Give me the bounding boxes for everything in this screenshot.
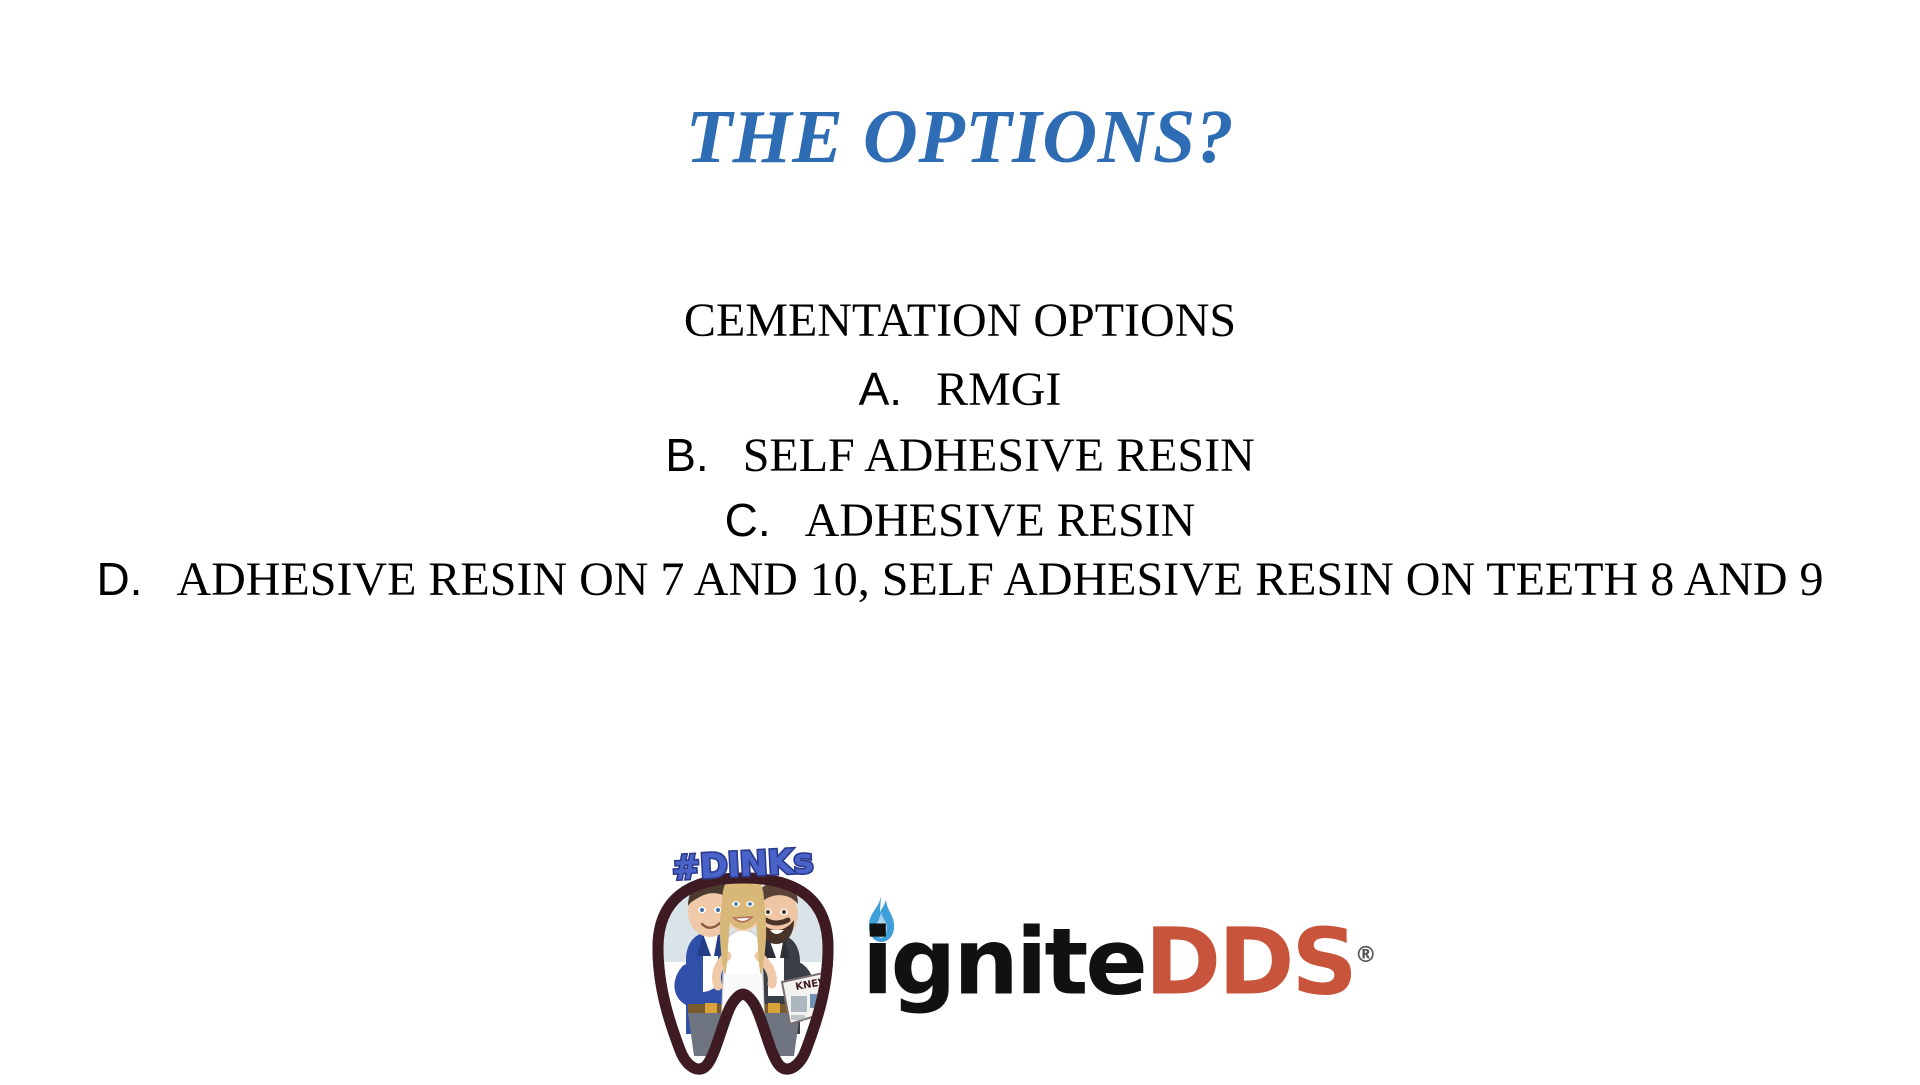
option-marker-b: B.	[665, 429, 708, 481]
option-item-c: C.ADHESIVE RESIN	[70, 488, 1850, 553]
option-item-b: B.SELF ADHESIVE RESIN	[70, 423, 1850, 488]
dinks-logo: KNEWS	[648, 844, 838, 1080]
dinks-wordmark: #DINKs	[671, 844, 814, 889]
option-marker-a: A.	[859, 363, 902, 415]
option-marker-d: D.	[96, 553, 142, 605]
dds-word: DDS	[1145, 909, 1355, 1016]
slide-title: THE OPTIONS?	[0, 96, 1920, 178]
option-marker-c: C.	[725, 494, 771, 546]
svg-text:#DINKs: #DINKs	[671, 844, 814, 889]
option-text-c: ADHESIVE RESIN	[805, 494, 1196, 547]
option-text-a: RMGI	[936, 363, 1061, 416]
ignitedds-logo: igniteDDS®	[862, 896, 1312, 1016]
logo-strip: KNEWS	[0, 838, 1920, 1080]
option-item-a: A.RMGI	[70, 357, 1850, 422]
dinks-logo-graphic: KNEWS	[648, 844, 838, 1080]
body-heading: CEMENTATION OPTIONS	[70, 288, 1850, 353]
option-text-b: SELF ADHESIVE RESIN	[743, 429, 1255, 482]
slide-body: CEMENTATION OPTIONS A.RMGI B.SELF ADHESI…	[70, 288, 1850, 607]
ignitedds-wordmark: igniteDDS®	[862, 896, 1377, 1023]
ignite-word: ignite	[862, 909, 1145, 1016]
presentation-slide: THE OPTIONS? CEMENTATION OPTIONS A.RMGI …	[0, 0, 1920, 1080]
option-text-d: ADHESIVE RESIN ON 7 AND 10, SELF ADHESIV…	[176, 553, 1823, 606]
registered-trademark-icon: ®	[1355, 943, 1377, 968]
option-item-d: D.ADHESIVE RESIN ON 7 AND 10, SELF ADHES…	[70, 553, 1850, 607]
